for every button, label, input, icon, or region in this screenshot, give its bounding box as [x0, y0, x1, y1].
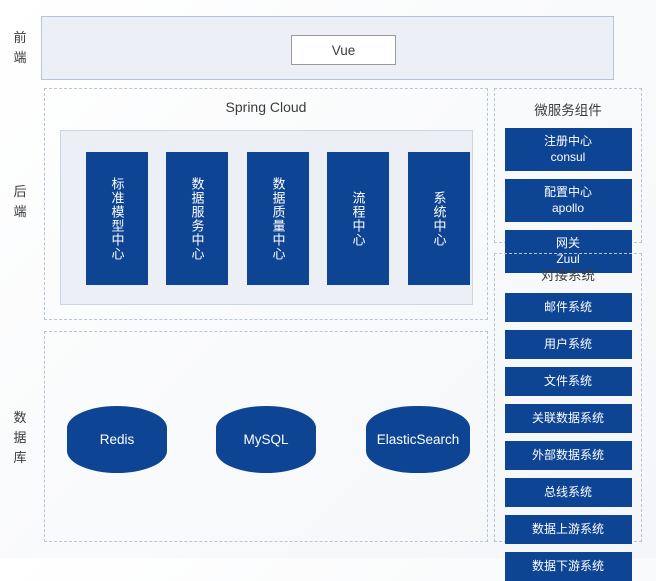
service-node-label: 数据质量中心: [269, 177, 288, 261]
service-node-process-center[interactable]: 流程中心: [327, 152, 389, 285]
service-node-data-quality-center[interactable]: 数据质量中心: [247, 152, 309, 285]
architecture-diagram: 前 端 后 端 数 据 库 Vue Spring Cloud 标准模型中心 数据…: [0, 0, 656, 558]
microservice-item-config[interactable]: 配置中心 apollo: [505, 179, 632, 222]
row-label-frontend: 前 端: [0, 28, 40, 68]
docking-systems-title: 对接系统: [495, 264, 641, 284]
docking-systems-panel: 对接系统 邮件系统 用户系统 文件系统 关联数据系统 外部数据系统 总线系统 数…: [494, 253, 642, 542]
vue-node[interactable]: Vue: [291, 35, 396, 65]
docking-item-bus-system[interactable]: 总线系统: [505, 478, 632, 507]
service-node-label: 流程中心: [349, 191, 368, 247]
row-label-database: 数 据 库: [0, 408, 40, 468]
microservice-item-name: 网关: [505, 235, 632, 251]
row-label-frontend-char-0: 前: [0, 28, 40, 48]
row-label-database-char-2: 库: [0, 448, 40, 468]
docking-item-upstream-data-system[interactable]: 数据上游系统: [505, 515, 632, 544]
database-node-elasticsearch[interactable]: ElasticSearch: [366, 406, 470, 473]
service-node-label: 系统中心: [430, 191, 449, 247]
row-label-database-char-1: 据: [0, 428, 40, 448]
microservice-components-panel: 微服务组件 注册中心 consul 配置中心 apollo 网关 Zuul: [494, 88, 642, 243]
docking-item-external-data-system[interactable]: 外部数据系统: [505, 441, 632, 470]
row-label-backend-char-1: 端: [0, 202, 40, 222]
database-node-mysql[interactable]: MySQL: [216, 406, 316, 473]
microservice-components-title: 微服务组件: [495, 99, 641, 119]
microservice-item-impl: apollo: [505, 200, 632, 216]
docking-item-mail-system[interactable]: 邮件系统: [505, 293, 632, 322]
docking-item-downstream-data-system[interactable]: 数据下游系统: [505, 552, 632, 581]
spring-cloud-panel: Spring Cloud 标准模型中心 数据服务中心 数据质量中心 流程中心 系…: [44, 88, 488, 320]
row-label-backend: 后 端: [0, 182, 40, 222]
microservice-item-impl: consul: [505, 149, 632, 165]
database-panel: Redis MySQL ElasticSearch: [44, 331, 488, 542]
docking-item-user-system[interactable]: 用户系统: [505, 330, 632, 359]
service-node-label: 标准模型中心: [108, 177, 127, 261]
row-label-backend-char-0: 后: [0, 182, 40, 202]
service-node-standard-model-center[interactable]: 标准模型中心: [86, 152, 148, 285]
row-label-frontend-char-1: 端: [0, 48, 40, 68]
service-node-label: 数据服务中心: [188, 177, 207, 261]
row-label-database-char-0: 数: [0, 408, 40, 428]
frontend-panel: Vue: [41, 16, 614, 80]
service-node-system-center[interactable]: 系统中心: [408, 152, 470, 285]
microservice-item-name: 注册中心: [505, 133, 632, 149]
spring-cloud-title: Spring Cloud: [45, 99, 487, 115]
docking-item-file-system[interactable]: 文件系统: [505, 367, 632, 396]
docking-item-linked-data-system[interactable]: 关联数据系统: [505, 404, 632, 433]
service-node-data-service-center[interactable]: 数据服务中心: [166, 152, 228, 285]
microservice-item-name: 配置中心: [505, 184, 632, 200]
microservice-item-registry[interactable]: 注册中心 consul: [505, 128, 632, 171]
spring-cloud-inner-panel: 标准模型中心 数据服务中心 数据质量中心 流程中心 系统中心: [60, 130, 473, 305]
database-node-redis[interactable]: Redis: [67, 406, 167, 473]
